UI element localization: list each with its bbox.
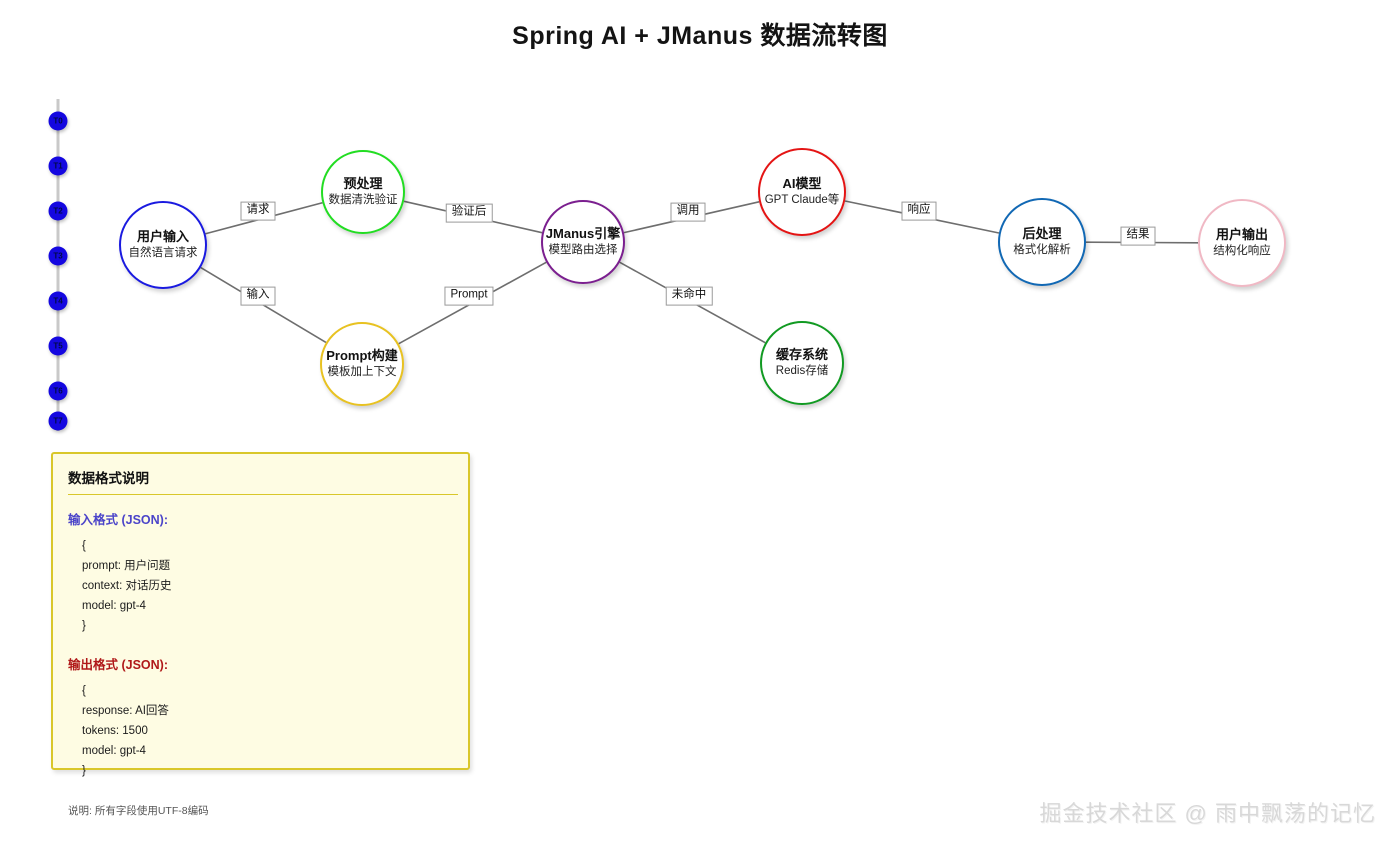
legend-code-line: }	[68, 761, 460, 781]
node-user-output[interactable]: 用户输出结构化响应	[1198, 199, 1286, 287]
legend-output-heading: 输出格式 (JSON):	[68, 654, 460, 673]
legend-code-line: response: AI回答	[68, 701, 460, 721]
node-subtitle: 格式化解析	[1013, 244, 1071, 257]
legend-code-line: model: gpt-4	[68, 596, 460, 616]
timeline-marker-label: T7	[53, 417, 62, 425]
legend-output-lines: {response: AI回答tokens: 1500model: gpt-4}	[68, 681, 460, 781]
node-jmanus[interactable]: JManus引擎模型路由选择	[541, 200, 625, 284]
edge-label-prompt-build-to-jmanus: Prompt	[444, 287, 493, 306]
node-title: Prompt构建	[326, 349, 398, 364]
node-subtitle: 数据清洗验证	[329, 194, 398, 207]
node-title: 预处理	[343, 177, 382, 192]
timeline-marker-label: T1	[53, 162, 62, 170]
node-user-input[interactable]: 用户输入自然语言请求	[119, 201, 207, 289]
node-subtitle: 模型路由选择	[549, 244, 618, 257]
timeline-marker-label: T5	[53, 342, 62, 350]
legend-panel: 数据格式说明 输入格式 (JSON): {prompt: 用户问题context…	[51, 452, 470, 770]
legend-code-line: prompt: 用户问题	[68, 556, 460, 576]
legend-code-line: model: gpt-4	[68, 741, 460, 761]
node-postprocess[interactable]: 后处理格式化解析	[998, 198, 1086, 286]
node-subtitle: Redis存储	[776, 365, 828, 378]
edge-label-jmanus-to-ai-model: 调用	[671, 203, 706, 222]
timeline-marker-t5[interactable]: T5	[49, 337, 68, 356]
timeline-marker-t0[interactable]: T0	[49, 112, 68, 131]
edge-label-postprocess-to-user-output: 结果	[1121, 227, 1156, 246]
timeline-marker-t3[interactable]: T3	[49, 247, 68, 266]
node-prompt-build[interactable]: Prompt构建模板加上下文	[320, 322, 404, 406]
timeline-marker-t6[interactable]: T6	[49, 382, 68, 401]
legend-code-line: {	[68, 536, 460, 556]
legend-title: 数据格式说明	[68, 467, 149, 487]
node-subtitle: 模板加上下文	[328, 366, 397, 379]
node-subtitle: 结构化响应	[1213, 245, 1271, 258]
legend-code-line: context: 对话历史	[68, 576, 460, 596]
edge-label-preprocess-to-jmanus: 验证后	[446, 204, 493, 223]
timeline-marker-t1[interactable]: T1	[49, 157, 68, 176]
edge-label-jmanus-to-cache: 未命中	[666, 287, 713, 306]
node-title: 后处理	[1022, 227, 1061, 242]
legend-input-heading: 输入格式 (JSON):	[68, 509, 460, 528]
legend-code-line: {	[68, 681, 460, 701]
legend-section-output: 输出格式 (JSON): {response: AI回答tokens: 1500…	[68, 654, 460, 781]
legend-divider	[68, 494, 458, 495]
timeline-marker-t4[interactable]: T4	[49, 292, 68, 311]
node-subtitle: 自然语言请求	[129, 247, 198, 260]
node-preprocess[interactable]: 预处理数据清洗验证	[321, 150, 405, 234]
node-ai-model[interactable]: AI模型GPT Claude等	[758, 148, 846, 236]
node-title: JManus引擎	[546, 227, 620, 242]
footer-note: 说明: 所有字段使用UTF-8编码	[68, 803, 209, 818]
edge-label-user-input-to-prompt-build: 输入	[241, 287, 276, 306]
timeline-marker-label: T6	[53, 387, 62, 395]
timeline-marker-label: T3	[53, 252, 62, 260]
node-title: AI模型	[782, 177, 821, 192]
watermark: 掘金技术社区 @ 雨中飘荡的记忆	[1039, 796, 1376, 828]
node-subtitle: GPT Claude等	[765, 194, 840, 207]
timeline-marker-label: T0	[53, 117, 62, 125]
timeline-marker-t7[interactable]: T7	[49, 412, 68, 431]
legend-code-line: }	[68, 616, 460, 636]
edge-label-ai-model-to-postprocess: 响应	[902, 202, 937, 221]
node-title: 缓存系统	[776, 348, 828, 363]
legend-section-input: 输入格式 (JSON): {prompt: 用户问题context: 对话历史m…	[68, 509, 460, 636]
timeline-marker-label: T2	[53, 207, 62, 215]
legend-code-line: tokens: 1500	[68, 721, 460, 741]
edge-label-user-input-to-preprocess: 请求	[241, 202, 276, 221]
node-title: 用户输出	[1216, 228, 1268, 243]
timeline-marker-t2[interactable]: T2	[49, 202, 68, 221]
timeline-marker-label: T4	[53, 297, 62, 305]
node-cache[interactable]: 缓存系统Redis存储	[760, 321, 844, 405]
node-title: 用户输入	[137, 230, 189, 245]
legend-input-lines: {prompt: 用户问题context: 对话历史model: gpt-4}	[68, 536, 460, 636]
